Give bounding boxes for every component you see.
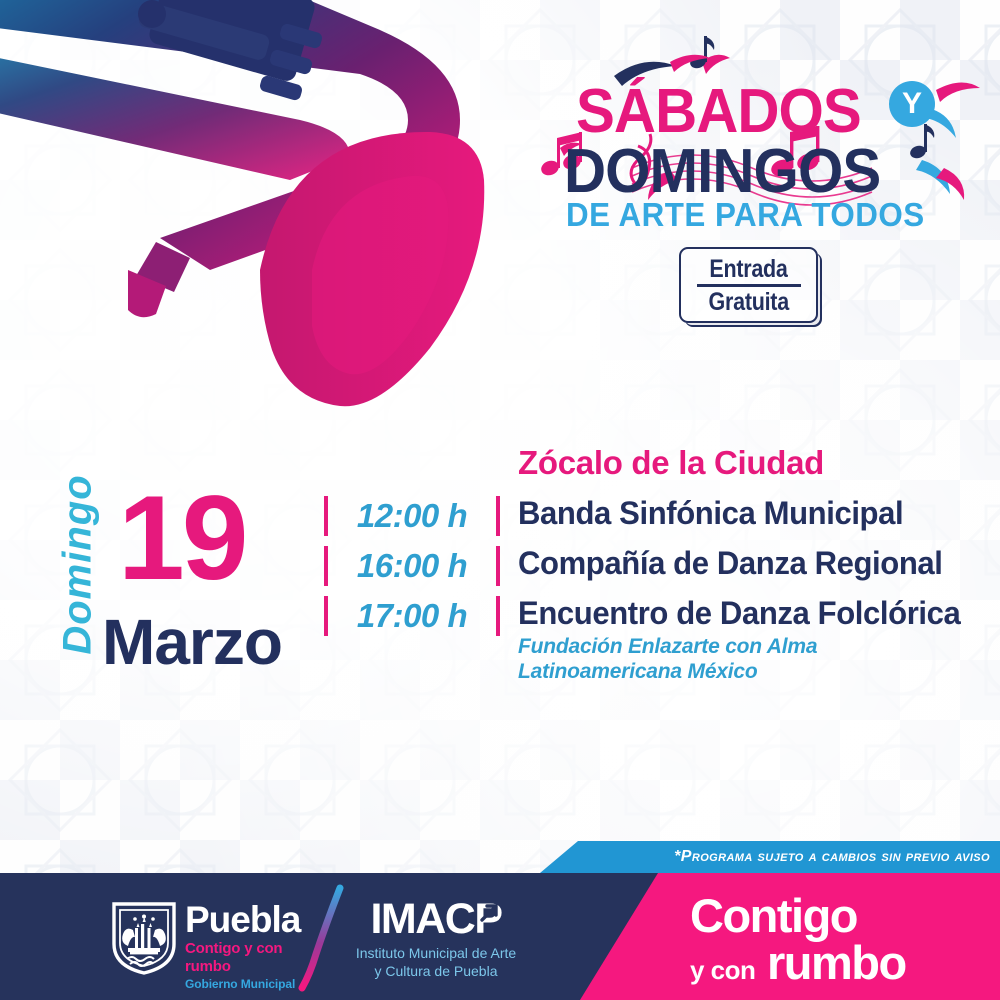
schedule-row: 12:00 h Banda Sinfónica Municipal <box>324 496 994 536</box>
schedule-event-name: Compañía de Danza Regional <box>518 547 943 581</box>
poster-title-block: SÁBADOS Y DOMINGOS DE ARTE PARA TODOS <box>520 28 990 228</box>
imacp-subtitle: Instituto Municipal de Arte y Cultura de… <box>346 945 526 980</box>
slogan-line-1: Contigo <box>690 893 980 939</box>
admission-line-2: Gratuita <box>708 289 788 315</box>
schedule-event-name: Encuentro de Danza Folclórica <box>518 597 960 631</box>
event-date-block: Domingo 19 Marzo <box>30 460 320 700</box>
admission-line-1: Entrada <box>709 256 787 282</box>
venue-name: Zócalo de la Ciudad <box>518 444 994 482</box>
schedule-event-cell: Encuentro de Danza Folclórica Fundación … <box>500 596 974 685</box>
imacp-logo: IMACP Instituto Municipal de Arte y Cult… <box>346 898 526 980</box>
imacp-subtitle-line-1: Instituto Municipal de Arte <box>346 945 526 963</box>
title-conjunction-badge: Y <box>889 81 935 127</box>
schedule-list: Zócalo de la Ciudad 12:00 h Banda Sinfón… <box>324 444 994 695</box>
schedule-event-cell: Banda Sinfónica Municipal <box>500 496 915 531</box>
schedule-event-name: Banda Sinfónica Municipal <box>518 497 903 531</box>
imacp-wordmark: IMACP <box>370 898 501 941</box>
schedule-row: 17:00 h Encuentro de Danza Folclórica Fu… <box>324 596 994 685</box>
disclaimer-text: *Programa sujeto a cambios sin previo av… <box>674 848 1000 866</box>
imacp-subtitle-line-2: y Cultura de Puebla <box>346 963 526 981</box>
schedule-time-cell: 12:00 h <box>324 496 500 536</box>
free-admission-badge: Entrada Gratuita <box>679 247 818 323</box>
puebla-coat-of-arms-icon <box>108 900 180 976</box>
imacp-arrow-icon <box>478 902 500 924</box>
date-weekday: Domingo <box>56 465 101 665</box>
slogan-line-2-big: rumbo <box>767 936 906 989</box>
date-month: Marzo <box>102 610 332 674</box>
admission-divider <box>697 284 801 287</box>
title-subtitle: DE ARTE PARA TODOS <box>566 196 925 234</box>
schedule-row: 16:00 h Compañía de Danza Regional <box>324 546 994 586</box>
event-poster: SÁBADOS Y DOMINGOS DE ARTE PARA TODOS En… <box>0 0 1000 1000</box>
schedule-event-note: Fundación Enlazarte con AlmaLatinoameric… <box>518 634 974 685</box>
slogan-line-2: y con rumbo <box>690 940 980 986</box>
trumpet-illustration <box>0 0 520 440</box>
date-day-number: 19 <box>118 484 318 592</box>
slogan-block: Contigo y con rumbo <box>690 893 980 986</box>
schedule-time: 16:00 h <box>328 547 496 585</box>
schedule-time-cell: 17:00 h <box>324 596 500 636</box>
disclaimer-banner: *Programa sujeto a cambios sin previo av… <box>540 841 1000 873</box>
schedule-time: 17:00 h <box>328 597 496 635</box>
schedule-time: 12:00 h <box>328 497 496 535</box>
slogan-line-2-small: y con <box>690 955 755 985</box>
schedule-time-cell: 16:00 h <box>324 546 500 586</box>
schedule-event-cell: Compañía de Danza Regional <box>500 546 956 581</box>
